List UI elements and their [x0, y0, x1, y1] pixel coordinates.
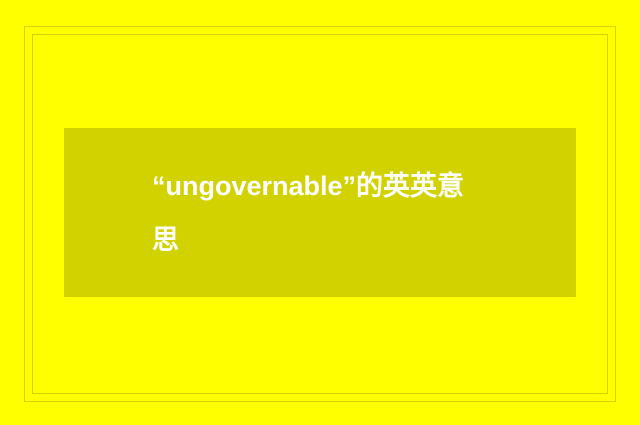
title-panel: “ungovernable”的英英意思 [64, 128, 576, 297]
page-title: “ungovernable”的英英意思 [152, 159, 488, 267]
page-canvas: “ungovernable”的英英意思 [0, 0, 640, 425]
